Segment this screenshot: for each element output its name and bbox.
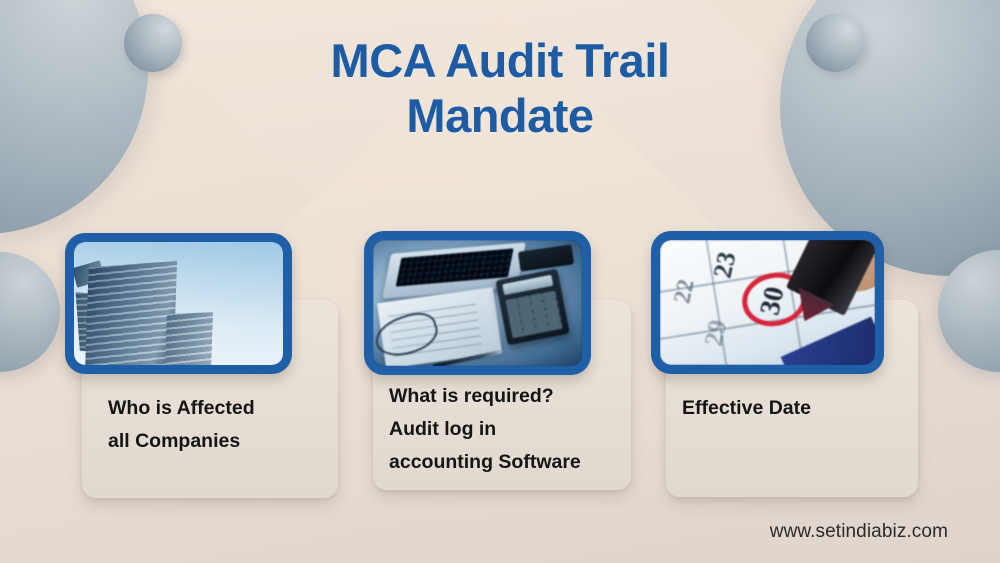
card-line: Audit log in <box>389 413 615 446</box>
website-url[interactable]: www.setindiabiz.com <box>770 521 948 543</box>
building-right-tower <box>165 313 213 365</box>
page-title-line-1: MCA Audit Trail <box>0 34 1000 89</box>
card-line: Who is Affected <box>108 392 322 425</box>
building-main-tower <box>84 261 176 365</box>
decorative-sphere-mid-left <box>0 252 60 372</box>
page-title: MCA Audit Trail Mandate <box>0 34 1000 143</box>
card-line: accounting Software <box>389 446 615 479</box>
calculator-keypad <box>504 290 562 338</box>
card-line: What is required? <box>389 380 615 413</box>
card-what-is-required-text: What is required? Audit log in accountin… <box>389 380 615 479</box>
card-line: Effective Date <box>682 392 902 425</box>
card-who-is-affected-text: Who is Affected all Companies <box>108 392 322 458</box>
page-title-line-2: Mandate <box>0 89 1000 144</box>
calendar-date-photo[interactable]: 22 23 29 30 <box>651 231 884 374</box>
card-line: all Companies <box>108 425 322 458</box>
card-effective-date-text: Effective Date <box>682 392 902 425</box>
corporate-building-photo[interactable] <box>65 233 292 374</box>
calendar-day-29: 29 <box>699 317 734 349</box>
decorative-sphere-mid-right <box>938 250 1000 372</box>
calculator <box>495 269 569 345</box>
calendar-day-22: 22 <box>669 276 700 305</box>
accounting-desk-photo[interactable] <box>364 231 591 375</box>
slide-canvas: MCA Audit Trail Mandate Who is Affected … <box>0 0 1000 563</box>
